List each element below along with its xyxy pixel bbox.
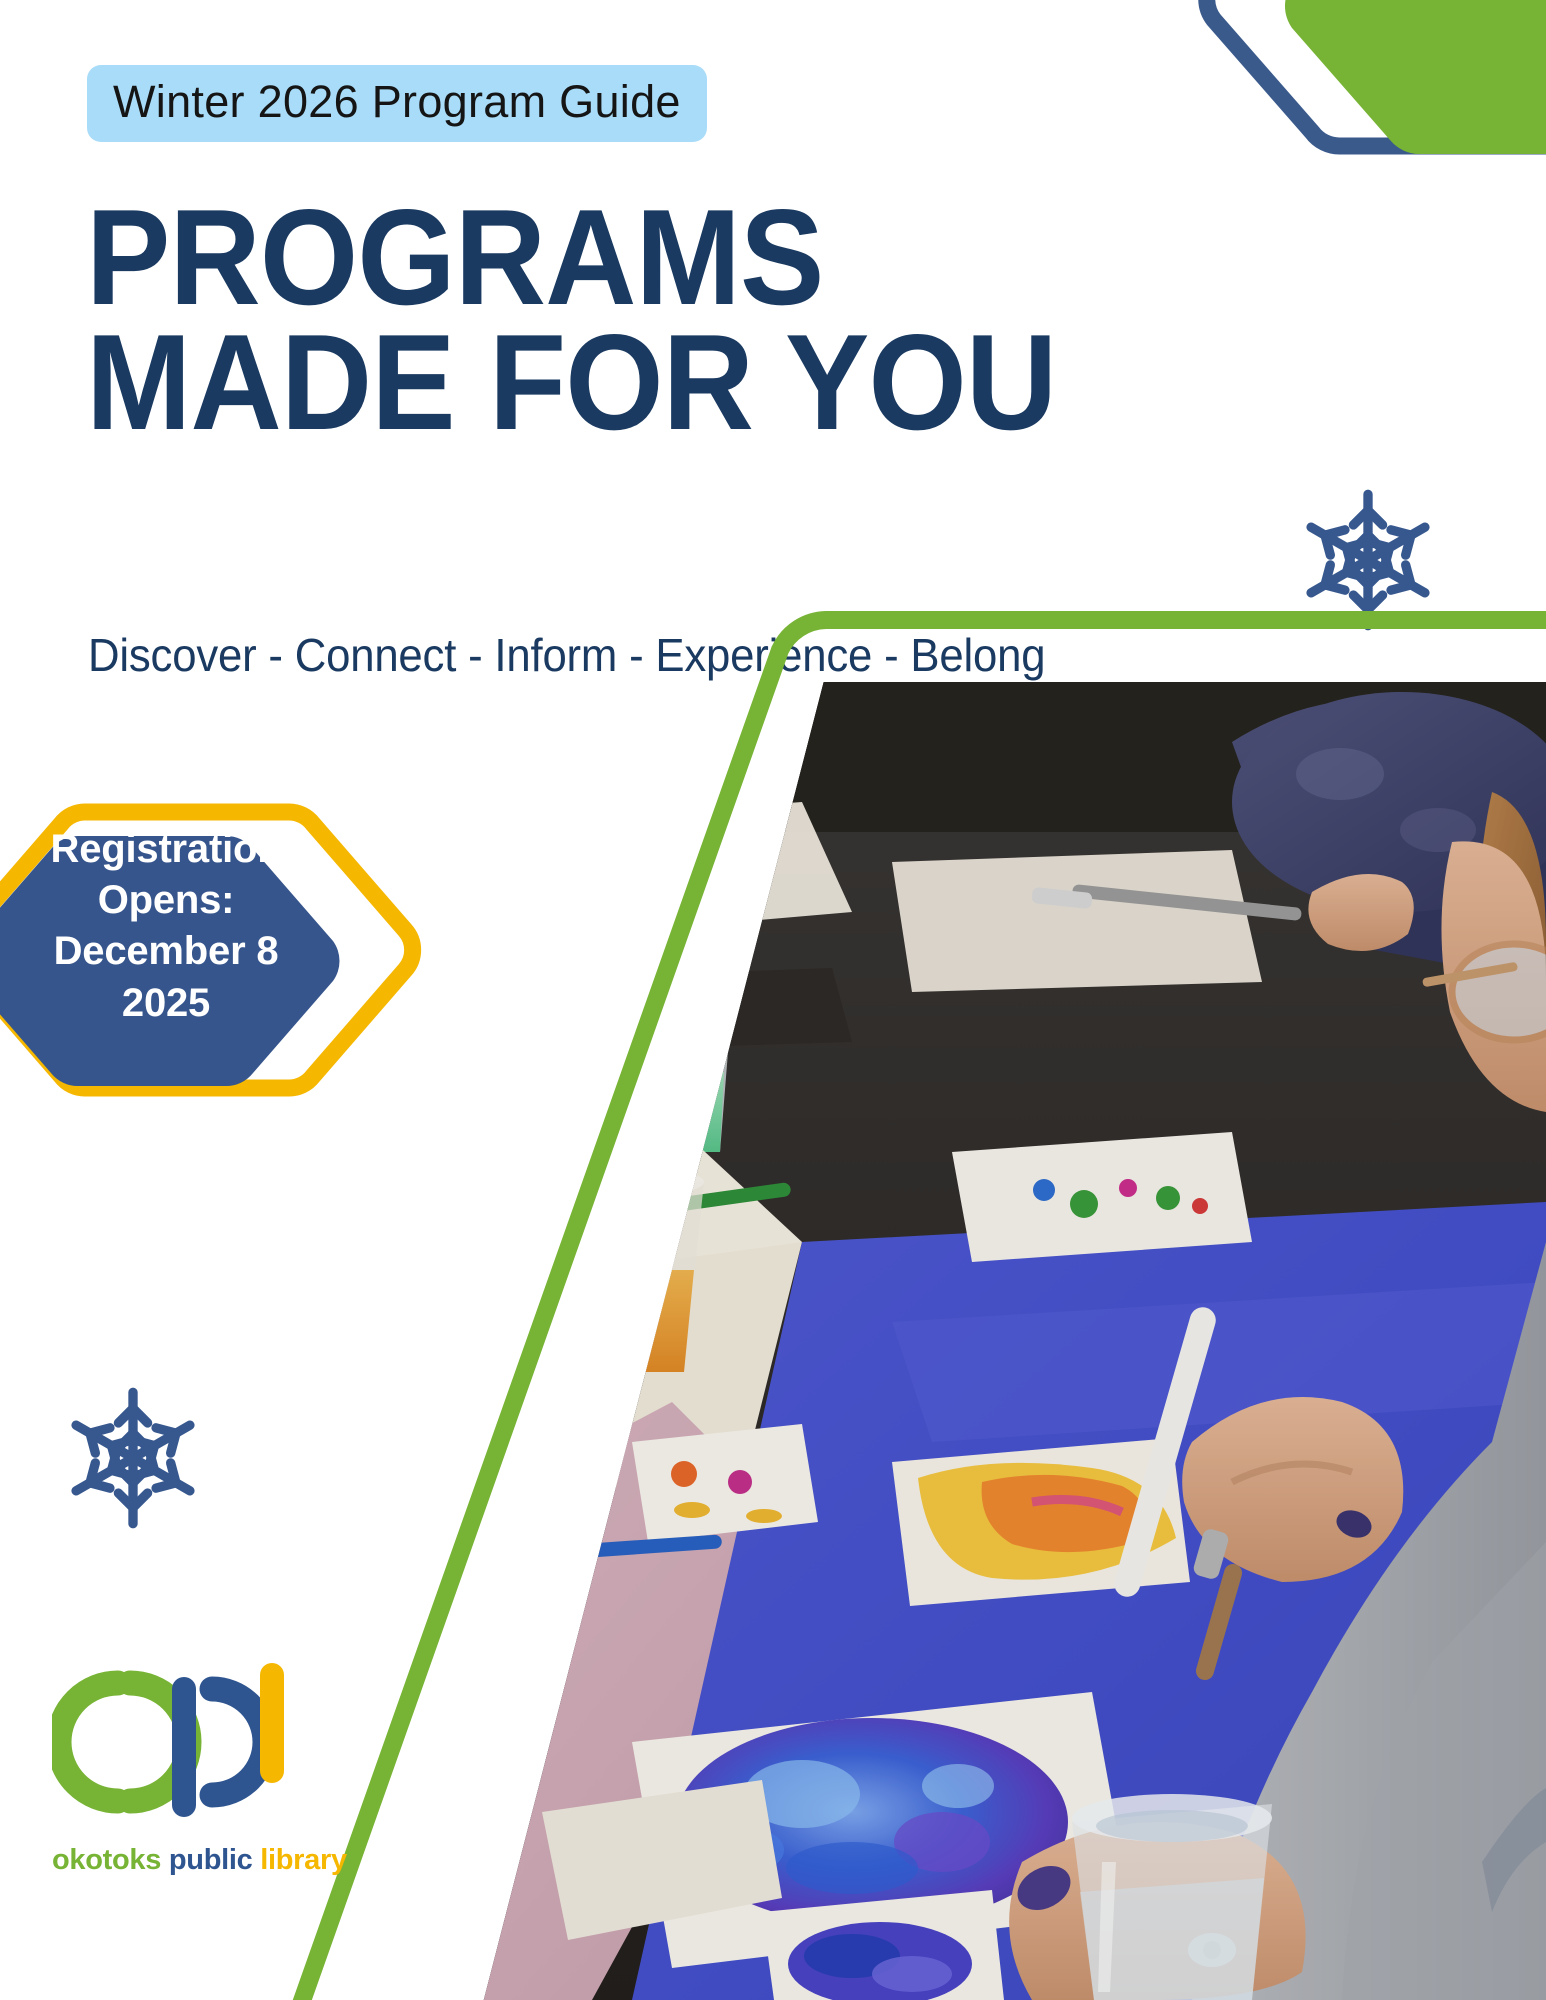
logo-wordmark: okotoks public library bbox=[52, 1844, 342, 1877]
cover-photo-block bbox=[260, 610, 1546, 2000]
logo-word-public: public bbox=[169, 1844, 253, 1876]
top-right-hexagon-decor bbox=[1096, 0, 1546, 270]
program-guide-cover: Winter 2026 Program Guide PROGRAMS MADE … bbox=[0, 0, 1546, 2000]
headline-line-2: MADE FOR YOU bbox=[86, 320, 1056, 445]
snowflake-icon bbox=[60, 1385, 206, 1531]
library-logo: okotoks public library bbox=[52, 1655, 342, 1905]
logo-word-library: library bbox=[260, 1844, 347, 1876]
navy-hexagon-outline-icon bbox=[1207, 0, 1546, 146]
page-title: PROGRAMS MADE FOR YOU bbox=[86, 195, 1056, 445]
green-hexagon-icon bbox=[1285, 0, 1546, 154]
logo-word-okotoks: okotoks bbox=[52, 1844, 161, 1876]
opl-monogram-icon bbox=[52, 1655, 292, 1830]
season-badge: Winter 2026 Program Guide bbox=[87, 65, 707, 142]
